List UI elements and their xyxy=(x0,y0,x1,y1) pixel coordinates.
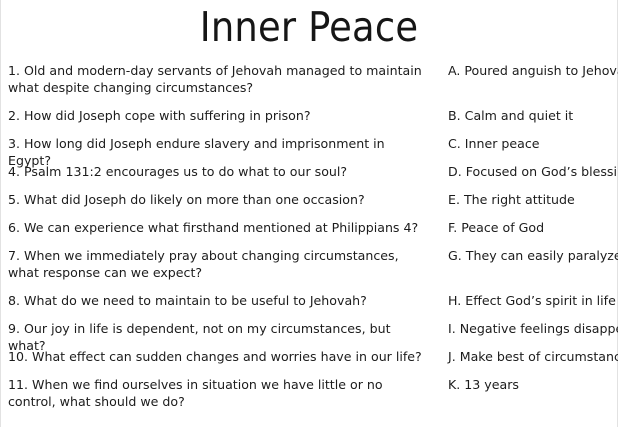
question-text: 2. How did Joseph cope with suffering in… xyxy=(8,107,424,124)
answer-text: D. Focused on God’s blessing xyxy=(448,163,613,180)
answer-item: J. Make best of circumstances xyxy=(448,348,613,376)
question-text: 6. We can experience what firsthand ment… xyxy=(8,219,424,236)
question-text: 10. What effect can sudden changes and w… xyxy=(8,348,424,365)
question-item: 6. We can experience what firsthand ment… xyxy=(8,219,428,247)
question-item: 7. When we immediately pray about changi… xyxy=(8,247,428,292)
answer-item: C. Inner peace xyxy=(448,135,613,163)
question-text: 11. When we find ourselves in situation … xyxy=(8,376,424,410)
answer-text: I. Negative feelings disappear xyxy=(448,320,613,337)
question-item: 8. What do we need to maintain to be use… xyxy=(8,292,428,320)
question-item: 10. What effect can sudden changes and w… xyxy=(8,348,428,376)
answer-text: F. Peace of God xyxy=(448,219,613,236)
question-text: 5. What did Joseph do likely on more tha… xyxy=(8,191,424,208)
answer-text: A. Poured anguish to Jehovah xyxy=(448,62,613,79)
question-item: 3. How long did Joseph endure slavery an… xyxy=(8,135,428,163)
question-text: 1. Old and modern-day servants of Jehova… xyxy=(8,62,424,96)
question-text: 7. When we immediately pray about changi… xyxy=(8,247,424,281)
answer-item: I. Negative feelings disappear xyxy=(448,320,613,348)
page-title: Inner Peace xyxy=(1,2,617,52)
question-text: 4. Psalm 131:2 encourages us to do what … xyxy=(8,163,424,180)
question-item: 2. How did Joseph cope with suffering in… xyxy=(8,107,428,135)
question-item: 1. Old and modern-day servants of Jehova… xyxy=(8,62,428,107)
answer-item: B. Calm and quiet it xyxy=(448,107,613,135)
answer-item: K. 13 years xyxy=(448,376,613,404)
answer-text: C. Inner peace xyxy=(448,135,613,152)
question-item: 4. Psalm 131:2 encourages us to do what … xyxy=(8,163,428,191)
answer-text: H. Effect God’s spirit in life xyxy=(448,292,613,309)
question-item: 5. What did Joseph do likely on more tha… xyxy=(8,191,428,219)
slide-canvas: Inner Peace 1. Old and modern-day servan… xyxy=(0,0,618,427)
question-text: 8. What do we need to maintain to be use… xyxy=(8,292,424,309)
answers-column: A. Poured anguish to JehovahB. Calm and … xyxy=(448,62,613,404)
question-item: 9. Our joy in life is dependent, not on … xyxy=(8,320,428,348)
question-item: 11. When we find ourselves in situation … xyxy=(8,376,428,421)
answer-text: B. Calm and quiet it xyxy=(448,107,613,124)
answer-text: G. They can easily paralyze life xyxy=(448,247,613,264)
answer-item: D. Focused on God’s blessing xyxy=(448,163,613,191)
answer-text: E. The right attitude xyxy=(448,191,613,208)
answer-item: A. Poured anguish to Jehovah xyxy=(448,62,613,107)
answer-item: E. The right attitude xyxy=(448,191,613,219)
questions-column: 1. Old and modern-day servants of Jehova… xyxy=(8,62,428,421)
answer-item: H. Effect God’s spirit in life xyxy=(448,292,613,320)
answer-text: K. 13 years xyxy=(448,376,613,393)
answer-item: G. They can easily paralyze life xyxy=(448,247,613,292)
answer-text: J. Make best of circumstances xyxy=(448,348,613,365)
answer-item: F. Peace of God xyxy=(448,219,613,247)
